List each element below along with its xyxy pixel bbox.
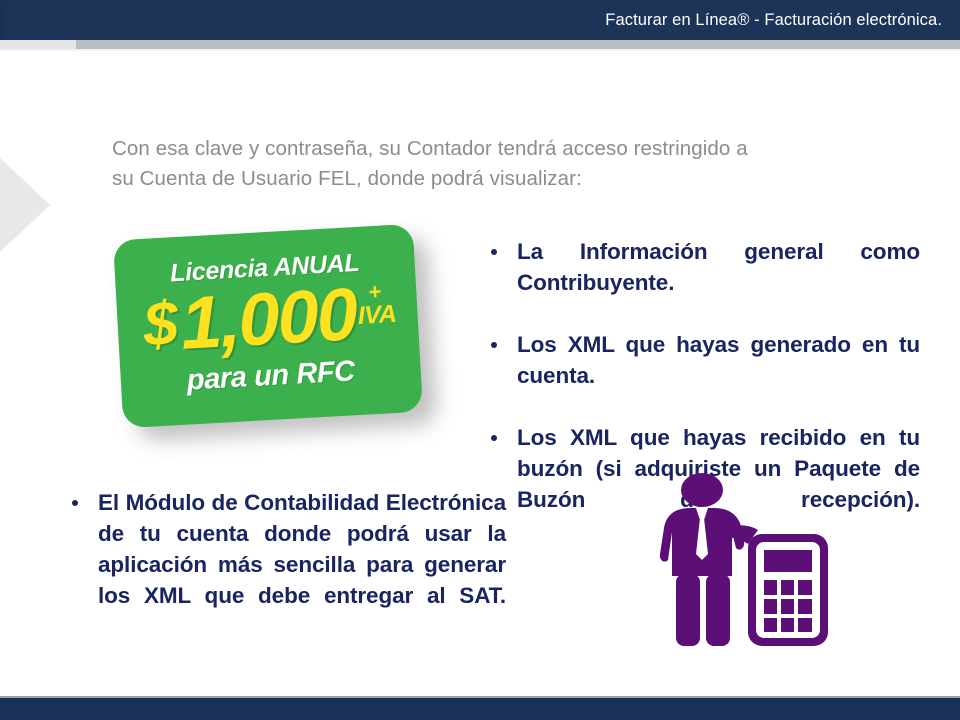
bullet-list-left: El Módulo de Contabilidad Electrónica de… bbox=[64, 487, 506, 642]
bullet-text: Los XML que hayas generado en tu cuenta. bbox=[517, 332, 920, 388]
accountant-calculator-icon bbox=[648, 468, 838, 653]
slide-canvas: Facturar en Línea® - Facturación electró… bbox=[0, 0, 960, 720]
license-card-tax: +IVA bbox=[356, 275, 394, 351]
header-title: Facturar en Línea® - Facturación electró… bbox=[605, 11, 942, 30]
intro-line-1: Con esa clave y contraseña, su Contador … bbox=[112, 134, 872, 164]
bullet-item: La Información general como Contribuyent… bbox=[483, 236, 920, 329]
footer-bar bbox=[0, 698, 960, 720]
header-underline bbox=[0, 40, 960, 49]
intro-paragraph: Con esa clave y contraseña, su Contador … bbox=[112, 134, 872, 194]
header-underline-highlight bbox=[0, 40, 76, 49]
license-card-tax-label: IVA bbox=[357, 301, 397, 329]
bullet-text: El Módulo de Contabilidad Electrónica de… bbox=[98, 490, 506, 608]
header-underline-shadow bbox=[0, 49, 960, 51]
bullet-dot-icon bbox=[72, 500, 78, 506]
license-card-plus-sign: + bbox=[368, 282, 382, 303]
bullet-item: Los XML que hayas generado en tu cuenta. bbox=[483, 329, 920, 422]
license-card-reflection: para un RFC bbox=[4, 222, 308, 319]
intro-line-2: su Cuenta de Usuario FEL, donde podrá vi… bbox=[112, 164, 872, 194]
bullet-dot-icon bbox=[491, 342, 497, 348]
bullet-dot-icon bbox=[491, 249, 497, 255]
license-card-reflection-fill: para un RFC bbox=[4, 222, 308, 319]
header-bar: Facturar en Línea® - Facturación electró… bbox=[0, 0, 960, 40]
bullet-text: La Información general como Contribuyent… bbox=[517, 239, 920, 295]
bullet-item: El Módulo de Contabilidad Electrónica de… bbox=[64, 487, 506, 642]
bullet-dot-icon bbox=[491, 435, 497, 441]
accountant-calculator-svg bbox=[648, 468, 838, 653]
